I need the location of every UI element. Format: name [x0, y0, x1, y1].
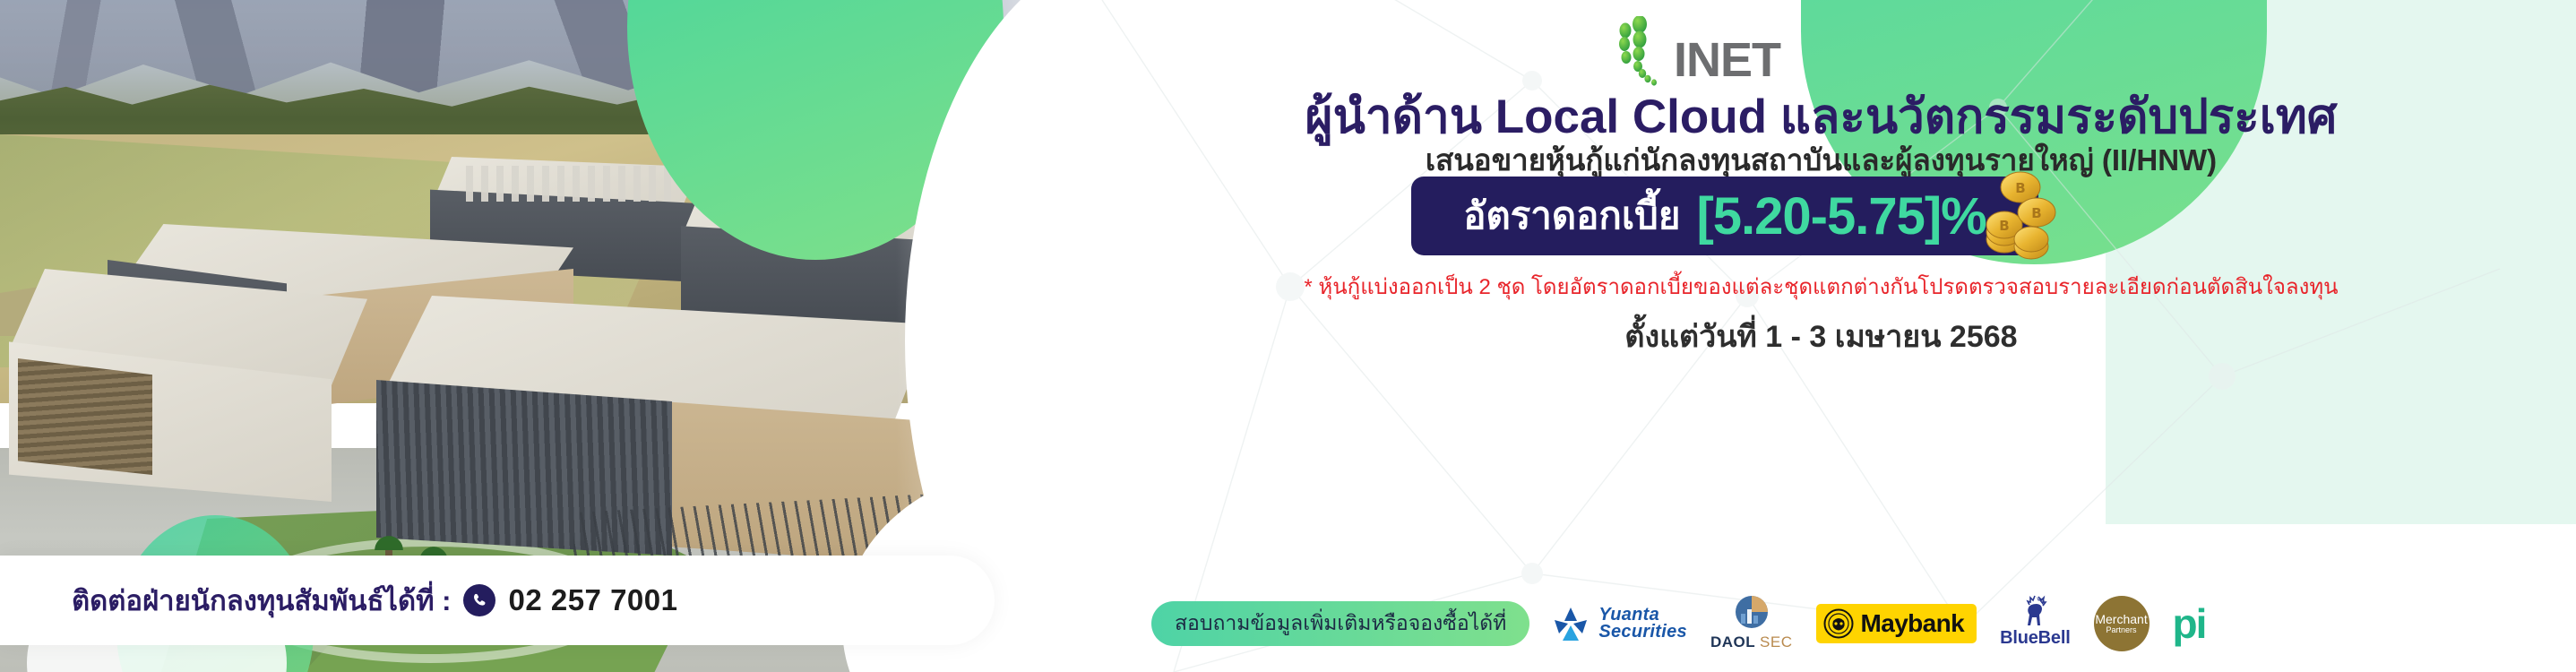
yuanta-star-icon — [1551, 604, 1590, 643]
disclaimer-note: * หุ้นกู้แบ่งออกเป็น 2 ชุด โดยอัตราดอกเบ… — [1066, 269, 2576, 304]
yuanta-line2: Securities — [1598, 624, 1687, 641]
merchant-line1: Merchant — [2095, 613, 2147, 625]
gold-coins-icon: B B B — [1967, 171, 2065, 261]
partner-logo-bluebell[interactable]: BlueBell — [2000, 594, 2070, 653]
phone-glyph — [470, 591, 488, 609]
svg-text:B: B — [2015, 180, 2025, 196]
partner-logo-daolsec[interactable]: DAOL SEC — [1710, 594, 1793, 653]
daol-line2: SEC — [1760, 633, 1792, 650]
investor-relations-contact-box: ติดต่อฝ่ายนักลงทุนสัมพันธ์ได้ที่ : 02 25… — [0, 556, 995, 645]
inet-logo: INET — [1604, 16, 1873, 86]
interest-rate-label: อัตราดอกเบี้ย — [1463, 186, 1680, 246]
cta-label: สอบถามข้อมูลเพิ่มเติมหรือจองซื้อได้ที่ — [1175, 607, 1506, 640]
interest-rate-value: [5.20-5.75]% — [1696, 186, 1986, 246]
maybank-tiger-icon — [1823, 608, 1854, 639]
broker-logos: Yuanta Securities DAOL — [1551, 594, 2205, 653]
partner-logo-yuanta[interactable]: Yuanta Securities — [1551, 594, 1687, 653]
partner-logo-maybank[interactable]: Maybank — [1816, 594, 1977, 653]
maybank-wordmark: Maybank — [1861, 609, 1965, 638]
contact-label: ติดต่อฝ่ายนักลงทุนสัมพันธ์ได้ที่ : — [72, 578, 451, 623]
photo-rooftop-equipment — [466, 166, 672, 202]
interest-rate-block: อัตราดอกเบี้ย [5.20-5.75]% — [1411, 177, 2110, 255]
content-panel: INET ผู้นำด้าน Local Cloud และนวัตกรรมระ… — [1066, 0, 2576, 672]
inet-bond-promotion-banner: INET ผู้นำด้าน Local Cloud และนวัตกรรมระ… — [0, 0, 2576, 672]
contact-phone-number: 02 257 7001 — [508, 583, 677, 617]
merchant-line2: Partners — [2106, 625, 2137, 635]
daol-line1: DAOL — [1710, 633, 1755, 650]
pi-wordmark: pi — [2173, 603, 2206, 644]
partner-logo-pi[interactable]: pi — [2173, 594, 2206, 653]
phone-icon — [463, 584, 495, 616]
svg-text:B: B — [1999, 218, 2009, 234]
cta-subscribe-button[interactable]: สอบถามข้อมูลเพิ่มเติมหรือจองซื้อได้ที่ — [1151, 601, 1529, 646]
partner-logo-merchant-partners[interactable]: Merchant Partners — [2094, 594, 2150, 653]
photo-building-b-louvers — [18, 358, 152, 475]
svg-text:B: B — [2031, 205, 2041, 221]
daol-mark-icon — [1729, 594, 1774, 632]
offer-date-range: ตั้งแต่วันที่ 1 - 3 เมษายน 2568 — [1066, 312, 2576, 360]
partners-row: สอบถามข้อมูลเพิ่มเติมหรือจองซื้อได้ที่ — [1066, 591, 2576, 656]
bluebell-wordmark: BlueBell — [2000, 628, 2070, 649]
bluebell-deer-icon — [2017, 594, 2053, 628]
interest-rate-badge: อัตราดอกเบี้ย [5.20-5.75]% — [1411, 177, 2038, 255]
